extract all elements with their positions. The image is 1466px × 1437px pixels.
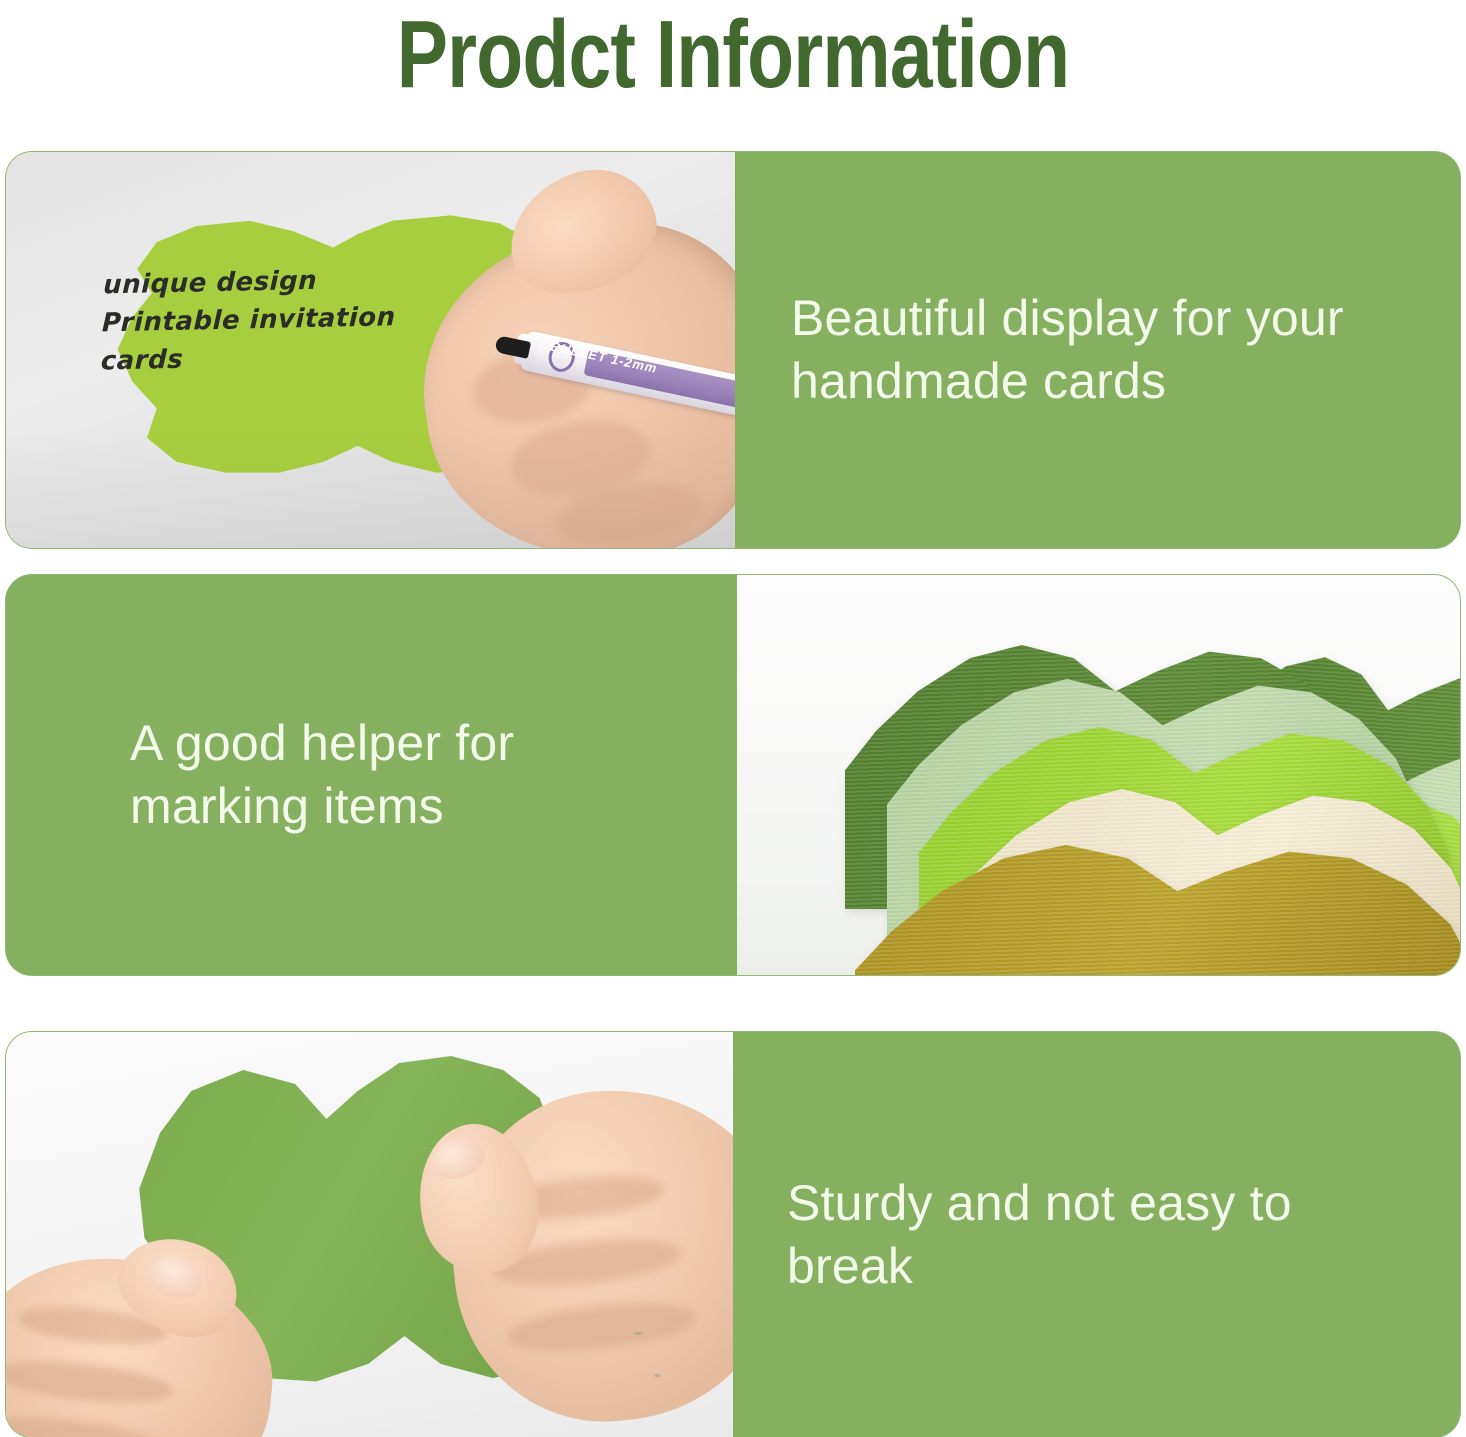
feature-panel-good-helper: A good helper for marking items — [6, 575, 1460, 975]
paper-edges — [855, 779, 1460, 975]
finger-shade — [6, 1355, 175, 1410]
wave-shape — [855, 779, 1460, 975]
photo-background: unique design Printable invitation cards… — [6, 152, 735, 548]
surface-speck — [654, 1374, 661, 1377]
photo-background — [737, 575, 1460, 975]
photo-background — [6, 1032, 733, 1437]
finger-shade — [6, 1411, 165, 1437]
panel-caption: Sturdy and not easy to break — [787, 1172, 1404, 1298]
feature-panel-beautiful-display: unique design Printable invitation cards… — [6, 152, 1460, 548]
desk-shadow — [6, 428, 735, 548]
caption-cell: A good helper for marking items — [6, 575, 737, 975]
page-title: Prodct Information — [147, 0, 1320, 114]
feature-panel-sturdy: Sturdy and not easy to break — [6, 1032, 1460, 1437]
caption-cell: Sturdy and not easy to break — [733, 1032, 1460, 1437]
writing-on-card-photo: unique design Printable invitation cards… — [6, 152, 735, 548]
panel-caption: A good helper for marking items — [130, 712, 681, 838]
panel-caption: Beautiful display for your handmade card… — [791, 287, 1404, 413]
card-stack-layer-olive — [855, 779, 1460, 975]
finger-shade — [505, 1296, 698, 1358]
hands-flexing-card-photo — [6, 1032, 733, 1437]
surface-speck — [634, 1332, 643, 1335]
caption-cell: Beautiful display for your handmade card… — [735, 152, 1460, 548]
card-stack-photo — [737, 575, 1460, 975]
